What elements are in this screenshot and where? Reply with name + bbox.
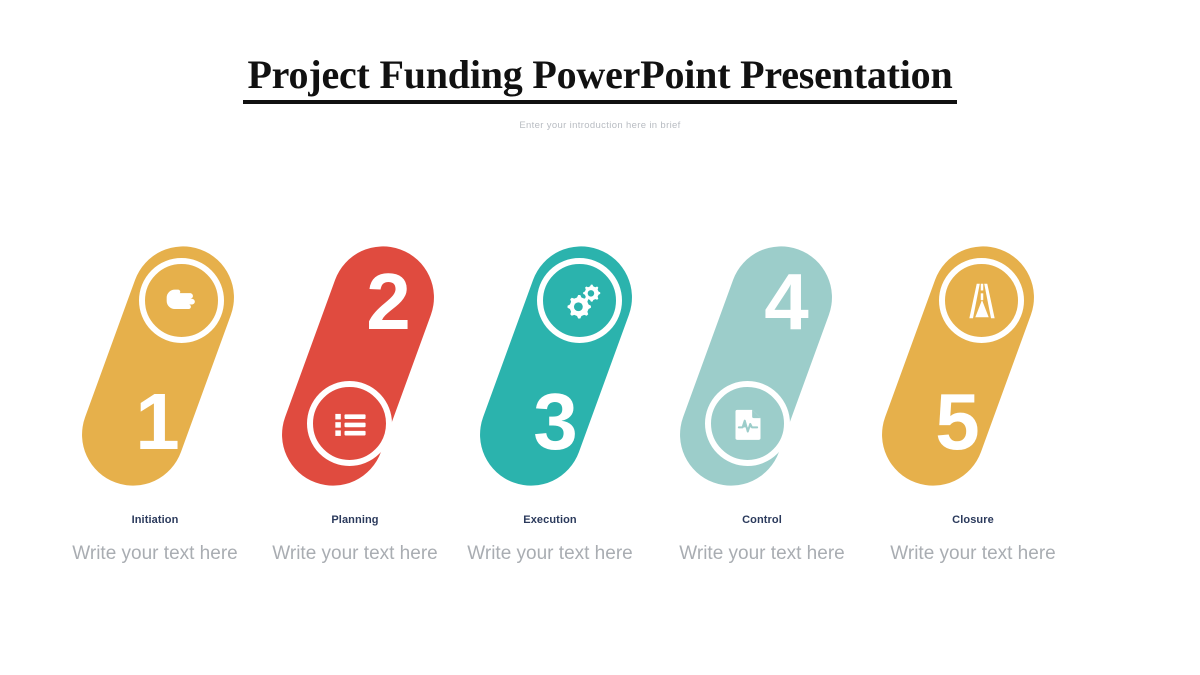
caption-step-1: Initiation Write your text here [55,514,255,567]
caption-body-execution[interactable]: Write your text here [450,542,650,567]
caption-title-planning: Planning [255,514,455,526]
caption-step-3: Execution Write your text here [450,514,650,567]
caption-title-closure: Closure [873,514,1073,526]
step-2-number: 2 [333,262,443,342]
caption-step-5: Closure Write your text here [873,514,1073,567]
caption-title-control: Control [662,514,862,526]
caption-step-2: Planning Write your text here [255,514,455,567]
caption-body-closure[interactable]: Write your text here [873,542,1073,567]
step-4-number: 4 [731,262,841,342]
process-step-2[interactable]: 2 [255,0,455,675]
bulleted-list-icon [328,402,372,446]
caption-body-planning[interactable]: Write your text here [255,542,455,567]
slide: Project Funding PowerPoint Presentation … [0,0,1200,675]
caption-step-4: Control Write your text here [662,514,862,567]
step-3-number: 3 [500,382,610,462]
road-icon [959,278,1005,324]
step-1-icon-badge[interactable] [139,258,224,343]
step-4-icon-badge[interactable] [705,381,790,466]
gears-icon [557,278,603,324]
step-1-number: 1 [102,382,212,462]
caption-body-control[interactable]: Write your text here [662,542,862,567]
process-diagram: 1 2 [0,0,1200,675]
step-2-icon-badge[interactable] [307,381,392,466]
pointing-hand-icon [159,278,205,324]
process-step-1[interactable]: 1 [55,0,255,675]
step-5-number: 5 [902,382,1012,462]
caption-title-execution: Execution [450,514,650,526]
caption-title-initiation: Initiation [55,514,255,526]
step-5-icon-badge[interactable] [939,258,1024,343]
process-step-3[interactable]: 3 [453,0,653,675]
step-3-icon-badge[interactable] [537,258,622,343]
document-pulse-icon [728,404,768,444]
process-step-4[interactable]: 4 [653,0,853,675]
process-step-5[interactable]: 5 [855,0,1055,675]
caption-body-initiation[interactable]: Write your text here [55,542,255,567]
